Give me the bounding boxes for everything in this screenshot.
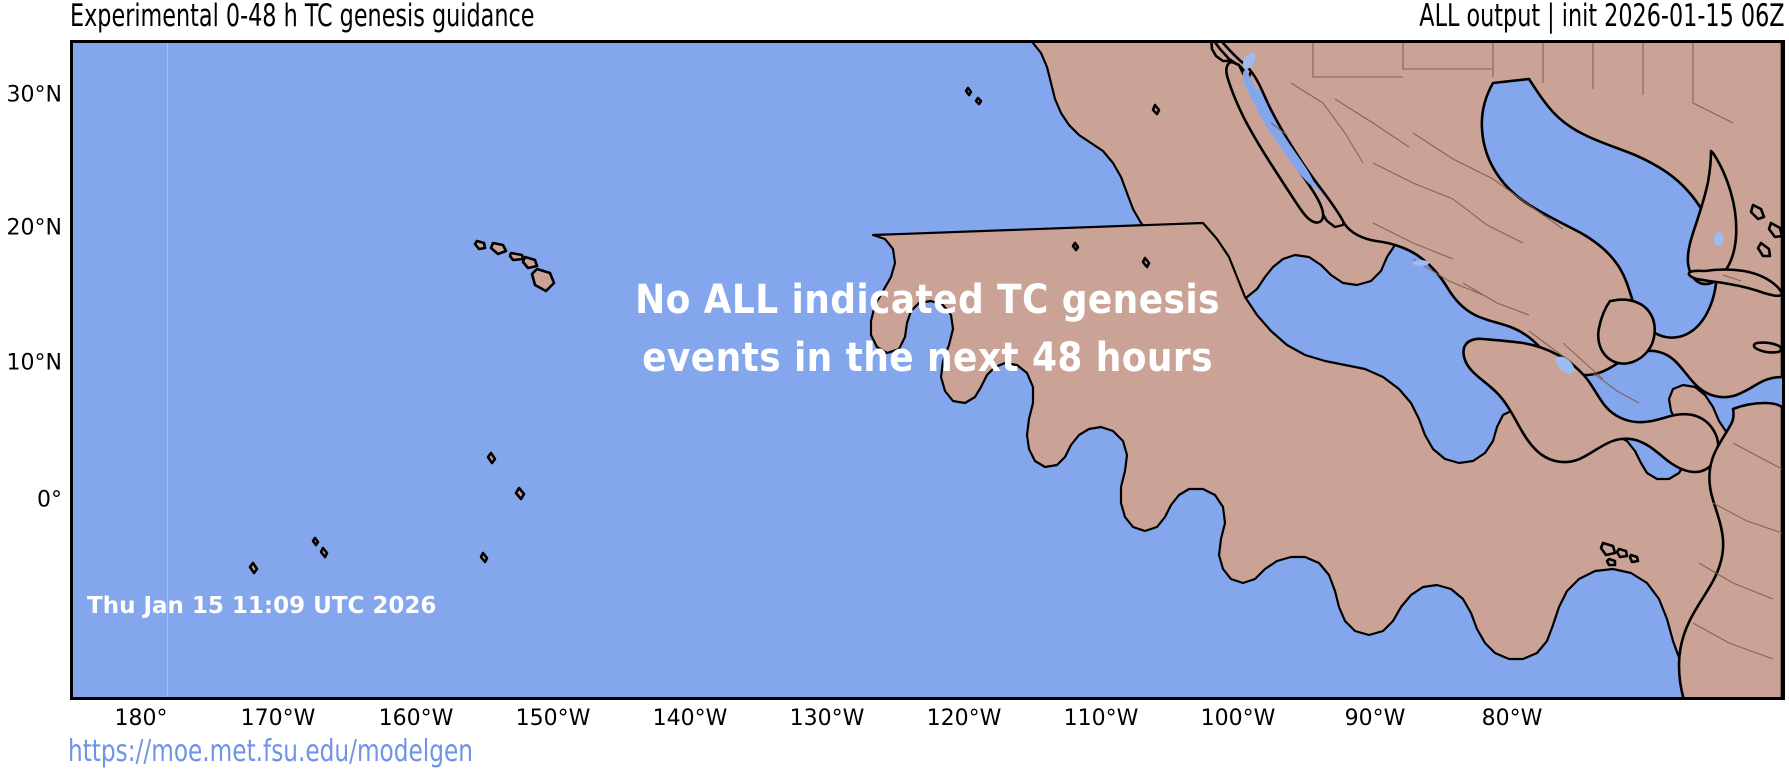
hawaii-maui xyxy=(523,257,537,268)
island-small-nw xyxy=(976,98,981,104)
jamaica xyxy=(1754,343,1781,353)
y-tick-0: 0° xyxy=(37,488,62,513)
page-title: Experimental 0-48 h TC genesis guidance xyxy=(70,0,534,36)
island-line-3 xyxy=(313,538,318,545)
run-info-title: ALL output | init 2026-01-15 06Z xyxy=(1420,0,1785,36)
galapagos-3 xyxy=(1607,559,1615,565)
lake-chapala xyxy=(1413,260,1429,266)
galapagos-2 xyxy=(1617,549,1627,557)
y-tick-10n: 10°N xyxy=(7,351,62,376)
timestamp-label: Thu Jan 15 11:09 UTC 2026 xyxy=(87,593,436,619)
x-tick-160w: 160°W xyxy=(379,706,454,731)
galapagos-4 xyxy=(1630,555,1638,562)
x-tick-80w: 80°W xyxy=(1482,706,1543,731)
x-tick-140w: 140°W xyxy=(653,706,728,731)
island-revilla xyxy=(966,88,971,95)
y-tick-20n: 20°N xyxy=(7,216,62,241)
source-url-link[interactable]: https://moe.met.fsu.edu/modelgen xyxy=(68,734,473,769)
x-tick-150w: 150°W xyxy=(516,706,591,731)
hawaii-molokai xyxy=(510,253,523,260)
x-tick-130w: 130°W xyxy=(790,706,865,731)
x-tick-100w: 100°W xyxy=(1201,706,1276,731)
x-tick-170w: 170°W xyxy=(241,706,316,731)
x-tick-90w: 90°W xyxy=(1345,706,1406,731)
x-tick-120w: 120°W xyxy=(927,706,1002,731)
y-tick-30n: 30°N xyxy=(7,83,62,108)
x-tick-110w: 110°W xyxy=(1064,706,1139,731)
map-panel[interactable]: No ALL indicated TC genesis events in th… xyxy=(70,40,1785,700)
island-clarion xyxy=(1073,243,1078,250)
yucatan xyxy=(1598,300,1654,364)
hawaii-kauai xyxy=(475,241,485,249)
tc-genesis-guidance-figure: Experimental 0-48 h TC genesis guidance … xyxy=(0,0,1789,768)
figure-title-row: Experimental 0-48 h TC genesis guidance … xyxy=(0,0,1789,36)
lake-okeechobee xyxy=(1714,232,1724,246)
x-tick-180: 180° xyxy=(115,706,168,731)
